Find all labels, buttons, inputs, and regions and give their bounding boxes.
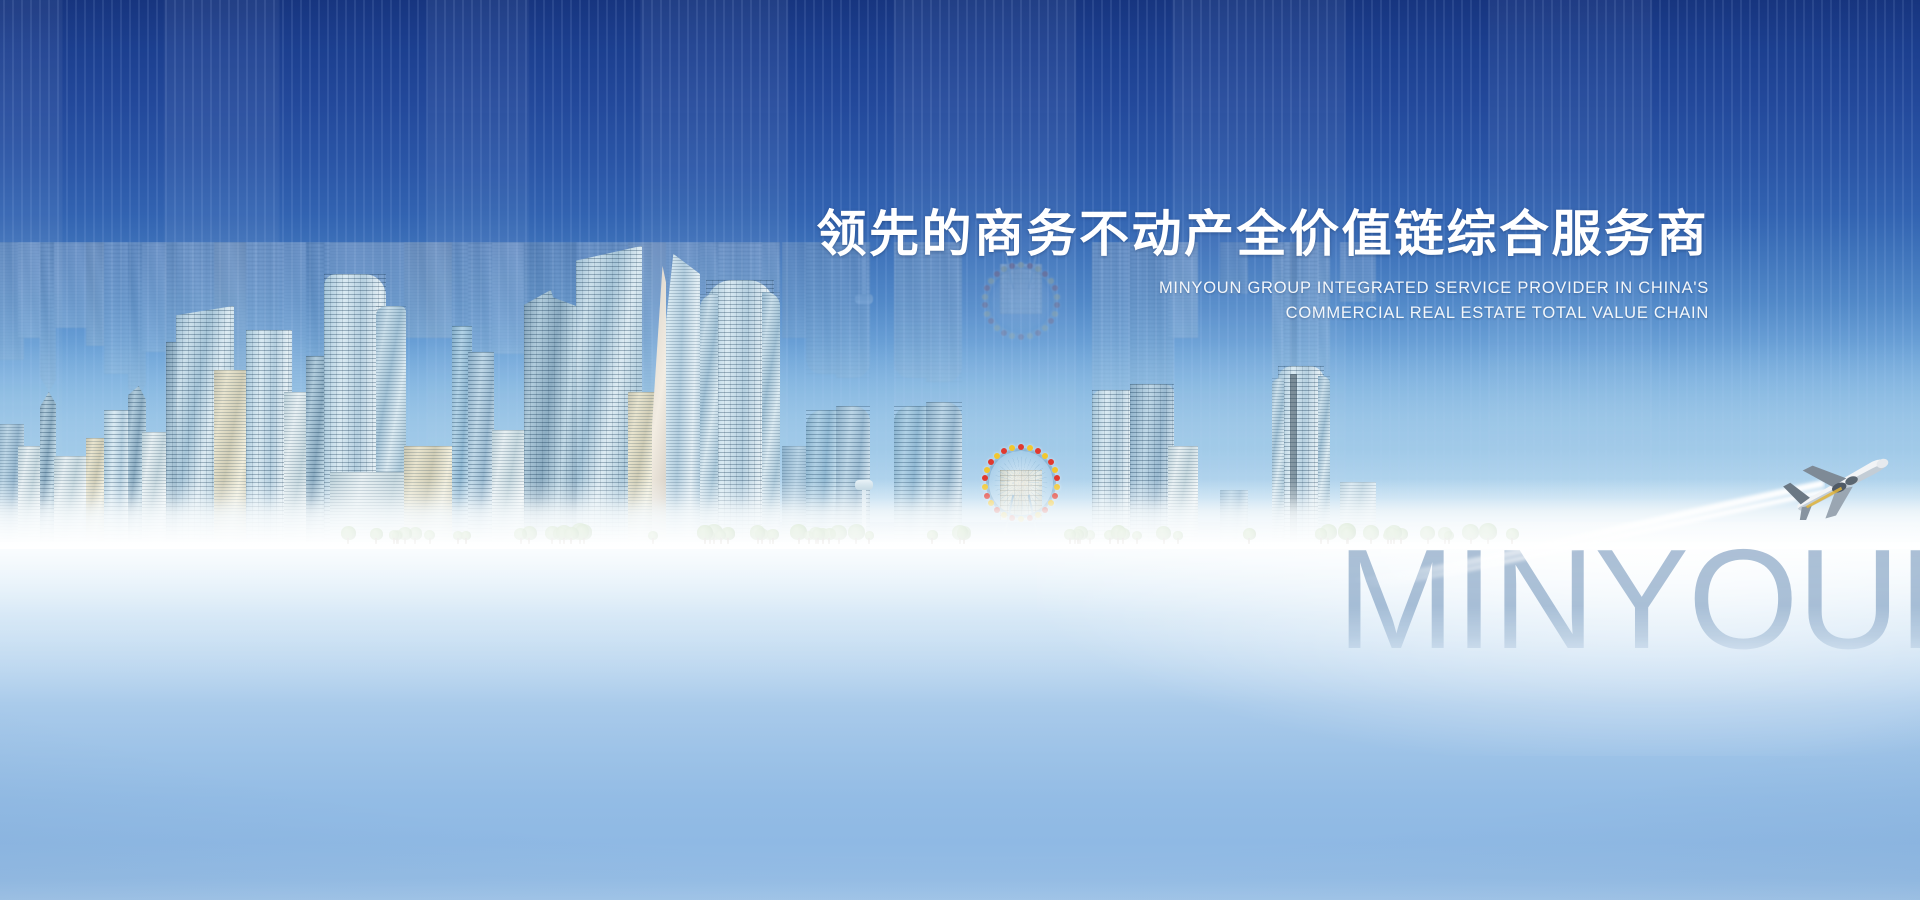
ferris-wheel-cabin [1009,445,1015,451]
ferris-wheel-cabin [982,475,988,481]
ferris-wheel-cabin [1018,444,1024,450]
subtitle-line-1: MINYOUN GROUP INTEGRATED SERVICE PROVIDE… [0,276,1709,301]
ferris-wheel-cabin [1054,484,1060,490]
subtitle-line-2: COMMERCIAL REAL ESTATE TOTAL VALUE CHAIN [0,301,1709,326]
ferris-wheel-cabin [1042,453,1048,459]
ferris-wheel-cabin [988,459,994,465]
ferris-wheel-cabin [1001,448,1007,454]
ferris-wheel-cabin [1035,448,1041,454]
brand-watermark: MINYOUN [1337,539,1920,661]
hero-banner: MINYOUN [0,0,1920,900]
ferris-wheel-cabin [984,467,990,473]
headline-block: 领先的商务不动产全价值链综合服务商 MINYOUN GROUP INTEGRAT… [0,206,1709,326]
observation-pod [855,480,873,490]
ferris-wheel-cabin [994,453,1000,459]
ferris-wheel-cabin [1048,459,1054,465]
subtitle: MINYOUN GROUP INTEGRATED SERVICE PROVIDE… [0,276,1709,326]
ferris-wheel-cabin [1052,467,1058,473]
waterfront-podium [0,498,1920,542]
page-title: 领先的商务不动产全价值链综合服务商 [0,206,1709,262]
ferris-wheel-cabin [982,484,988,490]
ferris-wheel-cabin [1027,445,1033,451]
ferris-wheel-cabin [1054,475,1060,481]
